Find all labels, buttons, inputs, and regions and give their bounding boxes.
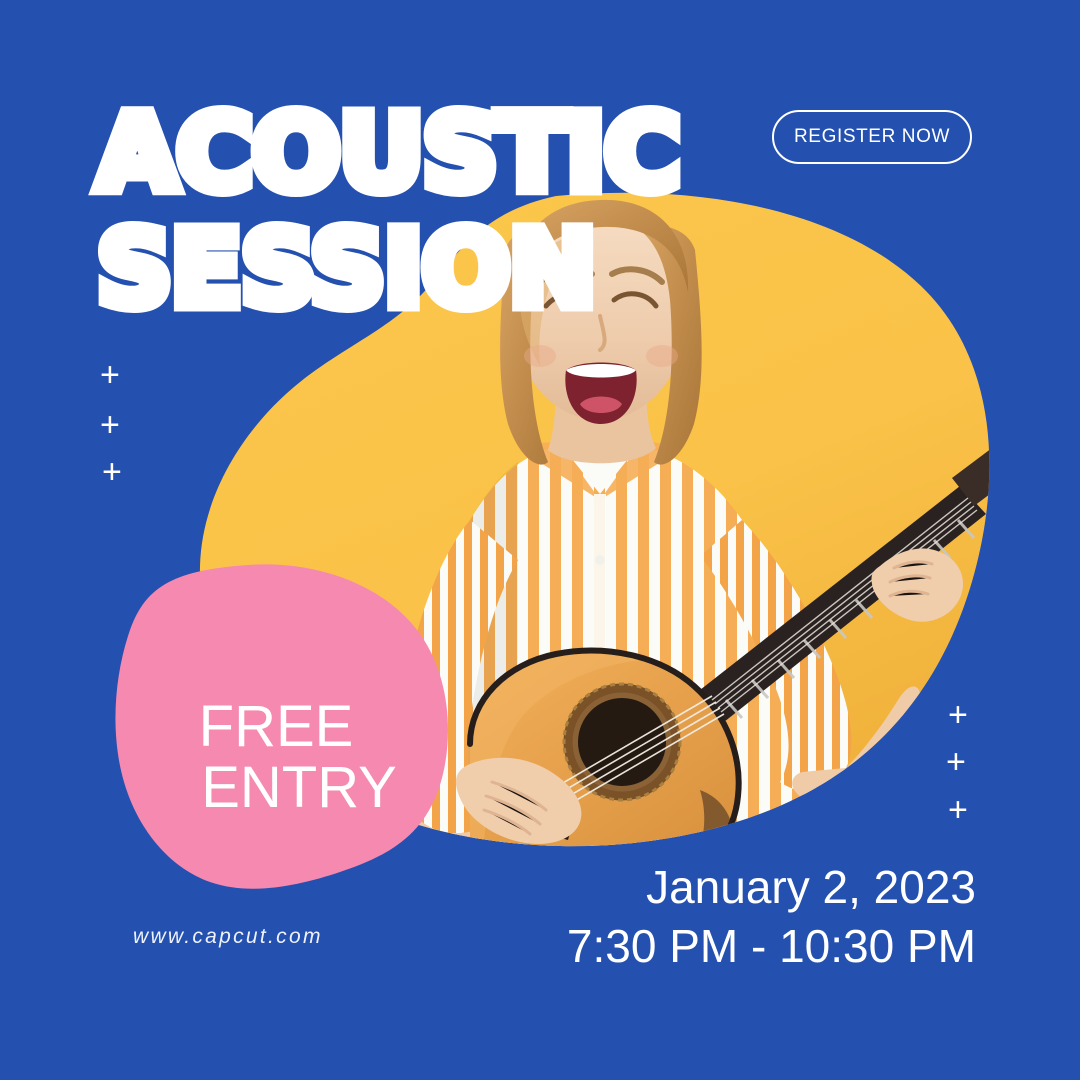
plus-icon-right-3: + xyxy=(948,793,968,827)
plus-icon-right-2: + xyxy=(946,745,966,779)
free-entry-line-1: FREE xyxy=(199,694,354,759)
website-url[interactable]: www.capcut.com xyxy=(133,925,323,949)
plus-icon-left-3: + xyxy=(102,455,122,489)
plus-icon-right-1: + xyxy=(948,698,968,732)
plus-icon-left-1: + xyxy=(100,358,120,392)
page-title: ACOUSTIC SESSION xyxy=(97,104,717,320)
free-entry-badge: FREE ENTRY xyxy=(150,696,402,819)
free-entry-line-2: ENTRY xyxy=(150,757,402,818)
poster-canvas: REGISTER NOW ACOUSTIC SESSION FREE ENTRY… xyxy=(0,0,1080,1080)
event-date: January 2, 2023 xyxy=(567,858,976,917)
register-now-button[interactable]: REGISTER NOW xyxy=(772,110,972,164)
event-time: 7:30 PM - 10:30 PM xyxy=(567,917,976,976)
title-line-1: ACOUSTIC xyxy=(97,104,717,204)
register-now-label: REGISTER NOW xyxy=(794,126,950,148)
title-line-2: SESSION xyxy=(97,220,717,320)
event-datetime: January 2, 2023 7:30 PM - 10:30 PM xyxy=(567,858,976,976)
plus-icon-left-2: + xyxy=(100,408,120,442)
